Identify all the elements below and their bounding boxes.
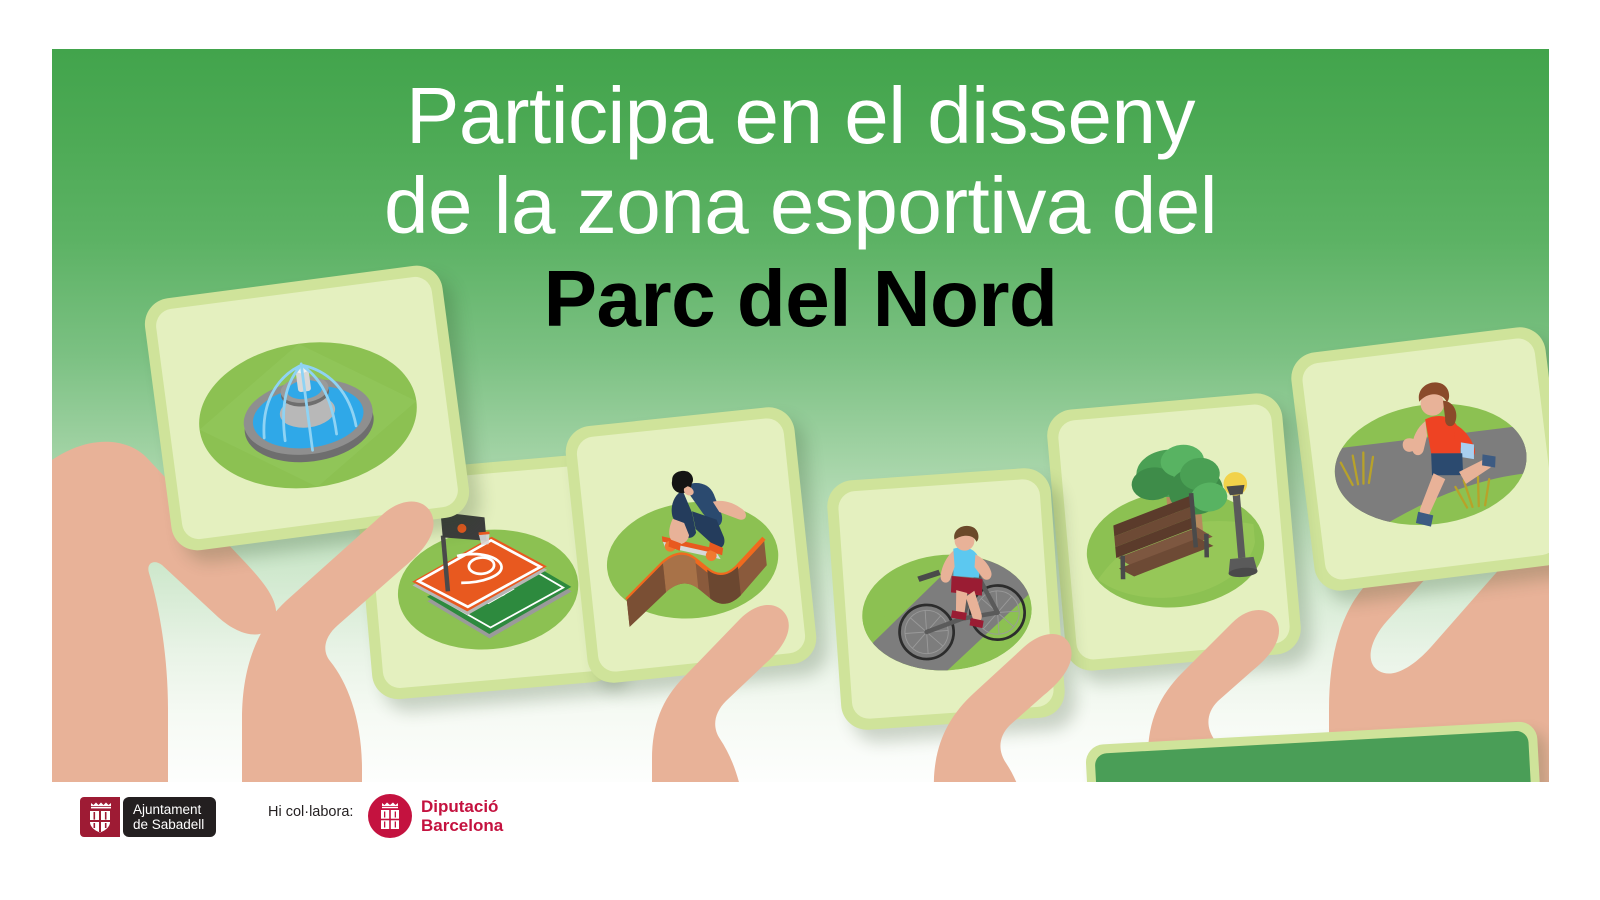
diputacio-name-line-2: Barcelona — [421, 816, 503, 836]
sabadell-crest-icon — [80, 797, 120, 837]
hand-left-index — [212, 469, 442, 782]
diputacio-crest-icon — [368, 794, 412, 838]
sabadell-wordmark: Ajuntament de Sabadell — [123, 797, 216, 837]
sabadell-name-line-1: Ajuntament — [133, 802, 204, 818]
sabadell-name-line-2: de Sabadell — [133, 817, 204, 833]
banner-page: Participa en el disseny de la zona espor… — [0, 0, 1600, 900]
logo-diputacio-barcelona[interactable]: Diputació Barcelona — [368, 794, 503, 838]
collaborates-label: Hi col·labora: — [268, 804, 353, 820]
headline-line-2: de la zona esportiva del — [52, 161, 1549, 251]
diputacio-wordmark: Diputació Barcelona — [421, 797, 503, 836]
footer-logos: Ajuntament de Sabadell Hi col·labora: — [0, 782, 1600, 900]
diputacio-name-line-1: Diputació — [421, 797, 503, 817]
cta-line-1: Fes la teva — [1202, 766, 1426, 782]
logo-ajuntament-de-sabadell[interactable]: Ajuntament de Sabadell — [80, 797, 216, 837]
card-running-art — [1301, 337, 1549, 582]
promo-banner: Participa en el disseny de la zona espor… — [52, 49, 1549, 782]
hand-center-left — [582, 549, 842, 782]
headline-line-1: Participa en el disseny — [52, 49, 1549, 161]
